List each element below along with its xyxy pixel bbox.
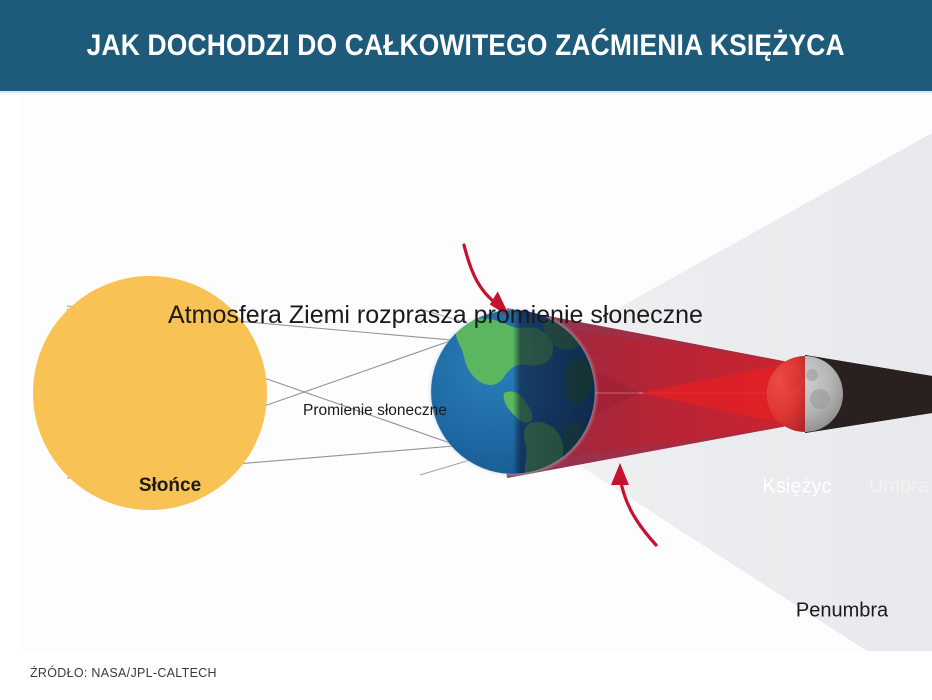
label-umbra: Umbra [869, 476, 929, 499]
label-moon: Księżyc [763, 476, 832, 499]
source-credit: ŹRÓDŁO: NASA/JPL-CALTECH [30, 666, 217, 680]
page-title: JAK DOCHODZI DO CAŁKOWITEGO ZAĆMIENIA KS… [87, 29, 845, 63]
eclipse-diagram: Atmosfera Ziemi rozprasza promienie słon… [20, 93, 932, 651]
label-sun: Słońce [139, 475, 201, 497]
diagram-canvas [20, 93, 932, 651]
label-penumbra: Penumbra [796, 600, 888, 623]
annotation-atmosphere: Atmosfera Ziemi rozprasza promienie słon… [168, 301, 703, 330]
annotation-sunrays: Promienie słoneczne [303, 402, 447, 420]
title-bar: JAK DOCHODZI DO CAŁKOWITEGO ZAĆMIENIA KS… [0, 0, 932, 91]
label-earth: Ziemia [509, 474, 575, 500]
infographic-root: JAK DOCHODZI DO CAŁKOWITEGO ZAĆMIENIA KS… [0, 0, 932, 700]
